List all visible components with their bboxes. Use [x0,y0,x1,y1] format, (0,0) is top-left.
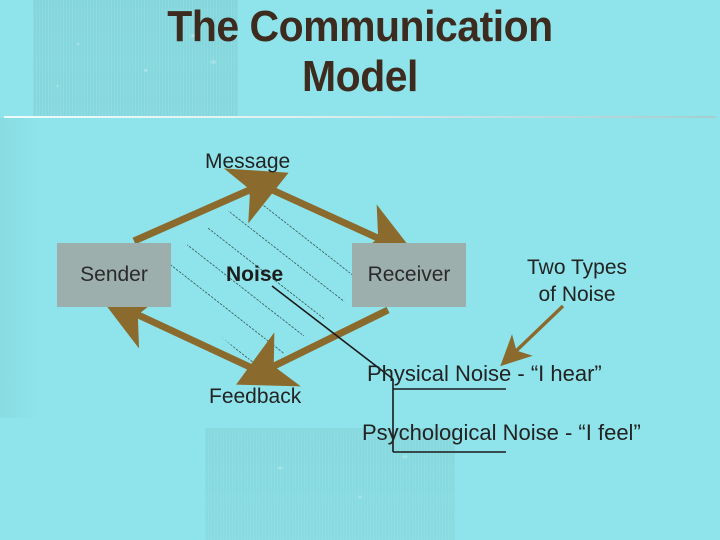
node-sender-label: Sender [80,263,148,287]
node-receiver[interactable]: Receiver [352,243,466,307]
arrow-two-types-to-list [515,306,563,352]
label-psychological-noise: Psychological Noise - “I feel” [362,420,641,446]
label-message: Message [205,150,290,174]
label-noise: Noise [226,263,283,287]
label-two-types-of-noise: Two Types of Noise [502,254,652,308]
label-physical-noise: Physical Noise - “I hear” [367,361,602,387]
slide-canvas: The Communication Model [0,0,720,540]
node-sender[interactable]: Sender [57,243,171,307]
node-receiver-label: Receiver [368,263,451,287]
label-feedback: Feedback [209,385,301,409]
